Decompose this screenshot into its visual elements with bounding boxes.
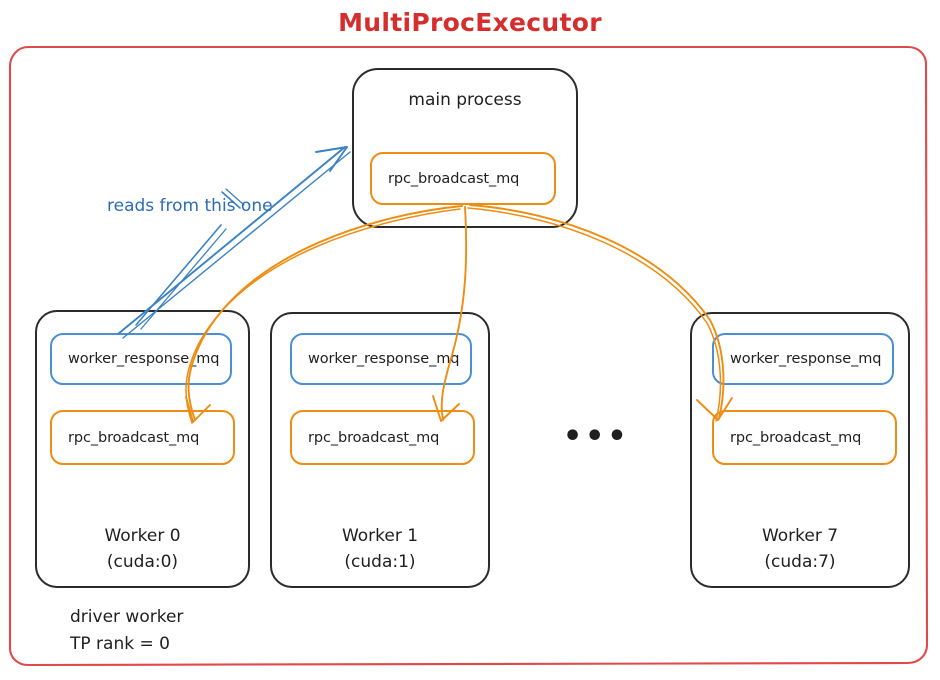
worker-1-rpc-broadcast-mq-label: rpc_broadcast_mq <box>308 430 439 446</box>
workers-ellipsis: ••• <box>563 422 623 452</box>
worker-7-worker-response-mq-label: worker_response_mq <box>730 351 881 367</box>
worker-7-worker-response-mq: worker_response_mq <box>712 333 894 385</box>
worker-0-caption: Worker 0 (cuda:0) <box>35 523 250 575</box>
reads-from-annotation: reads from this one <box>107 196 273 216</box>
worker-1-rpc-broadcast-mq: rpc_broadcast_mq <box>290 410 475 465</box>
worker-0-worker-response-mq-label: worker_response_mq <box>68 351 219 367</box>
driver-worker-note: driver worker TP rank = 0 <box>70 604 183 658</box>
worker-1-caption: Worker 1 (cuda:1) <box>270 523 490 575</box>
worker-7-caption: Worker 7 (cuda:7) <box>690 523 910 575</box>
main-process-rpc-broadcast-mq: rpc_broadcast_mq <box>370 152 556 205</box>
worker-0-rpc-broadcast-mq-label: rpc_broadcast_mq <box>68 430 199 446</box>
worker-1-worker-response-mq-label: worker_response_mq <box>308 351 459 367</box>
diagram-canvas: MultiProcExecutor main process rpc_broad… <box>0 0 940 680</box>
worker-0-worker-response-mq: worker_response_mq <box>50 333 232 385</box>
worker-7-rpc-broadcast-mq: rpc_broadcast_mq <box>712 410 897 465</box>
worker-7-rpc-broadcast-mq-label: rpc_broadcast_mq <box>730 430 861 446</box>
main-process-rpc-broadcast-mq-label: rpc_broadcast_mq <box>388 171 519 187</box>
worker-0-rpc-broadcast-mq: rpc_broadcast_mq <box>50 410 235 465</box>
main-process-title: main process <box>352 90 578 110</box>
page-title: MultiProcExecutor <box>0 8 940 37</box>
worker-1-worker-response-mq: worker_response_mq <box>290 333 472 385</box>
